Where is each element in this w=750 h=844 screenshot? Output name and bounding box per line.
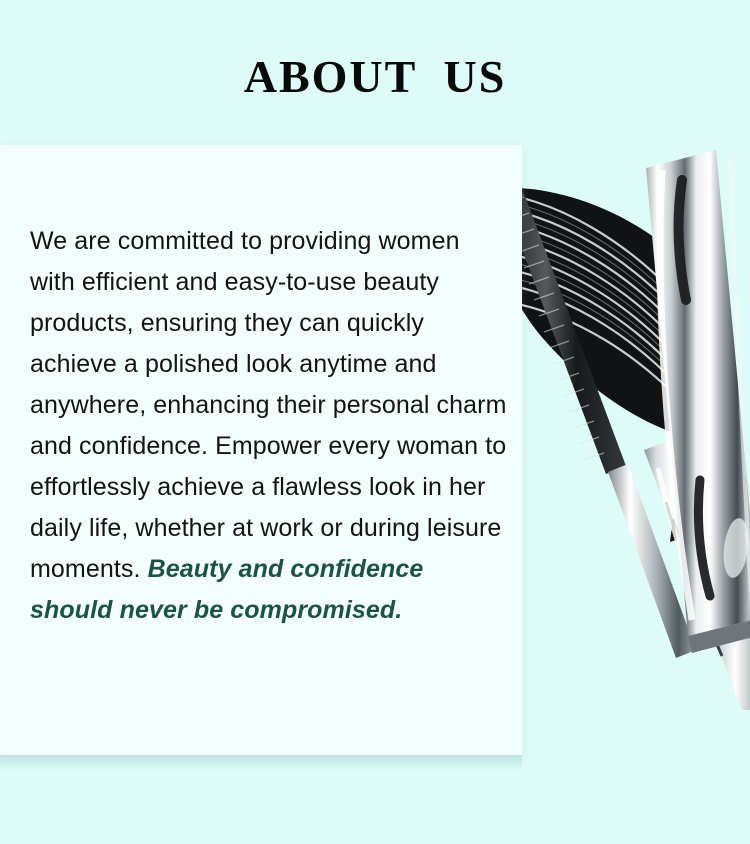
mascara-tube-left [644,432,750,710]
mascara-wand [502,188,696,658]
mascara-tube-right [646,150,750,653]
about-us-page: ABOUT US We are committed to providing w… [0,0,750,844]
about-paragraph-plain: We are committed to providing women with… [30,227,507,583]
about-paragraph: We are committed to providing women with… [30,221,508,631]
card-shadow [0,755,522,771]
page-title: ABOUT US [0,54,750,100]
